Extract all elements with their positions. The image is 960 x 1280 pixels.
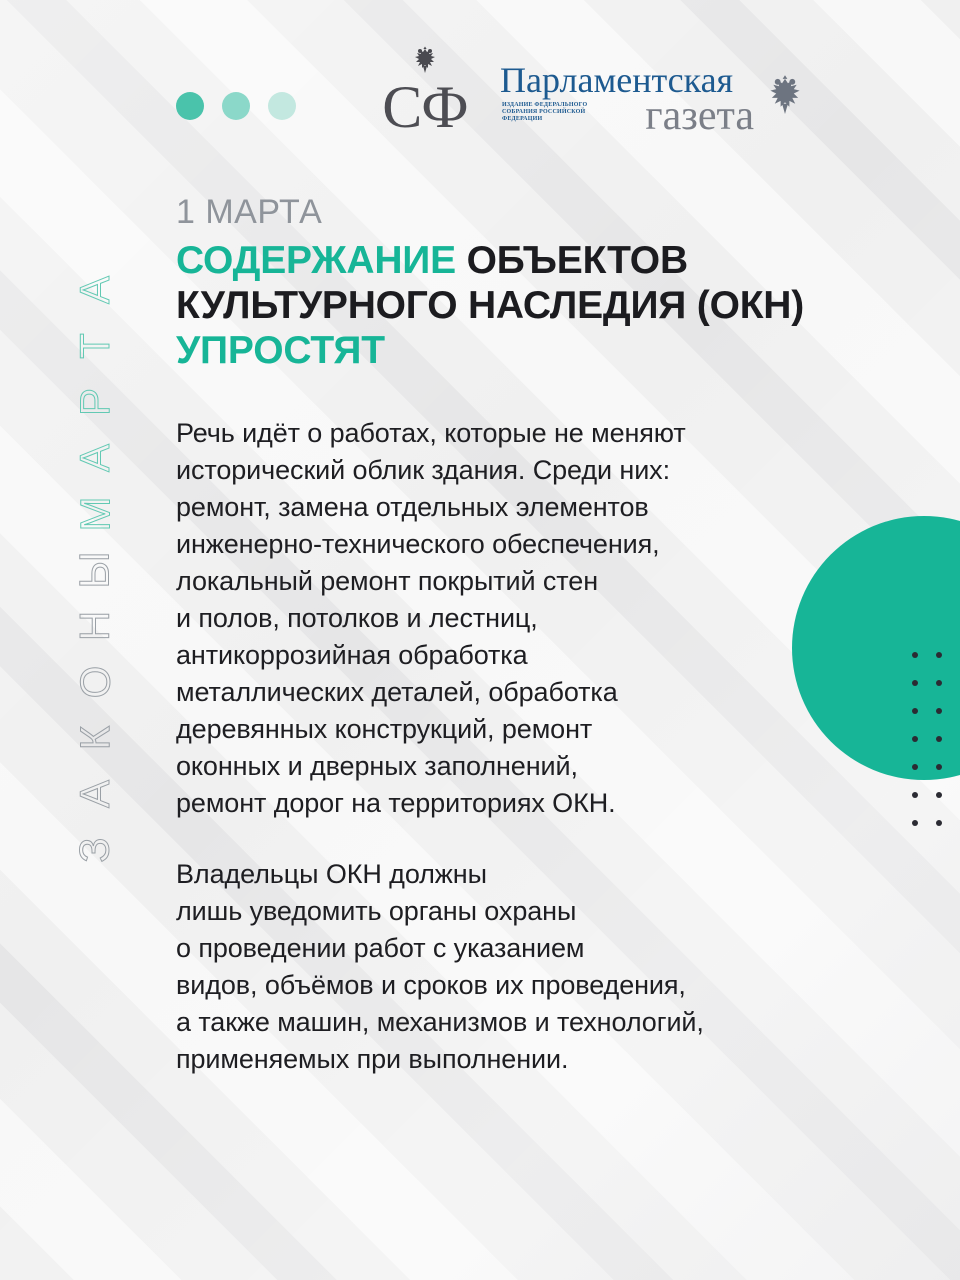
body-line: инженерно-технического обеспечения, xyxy=(176,526,876,563)
grid-dot-icon xyxy=(912,764,918,770)
side-label-letter-10: З xyxy=(73,837,117,862)
side-label-letter-6: Н xyxy=(73,611,117,641)
body-paragraphs: Речь идёт о работах, которые не меняютис… xyxy=(176,415,876,1078)
side-label-letter-7: О xyxy=(73,666,117,699)
grid-dot-icon xyxy=(912,652,918,658)
side-label-letter-2: Р xyxy=(73,388,117,416)
headline-accent-start: СОДЕРЖАНИЕ xyxy=(176,239,456,282)
parlamentskaya-gazeta-logo: Парламентская газета ИЗДАНИЕ ФЕДЕРАЛЬНОГ… xyxy=(500,62,800,136)
body-line: видов, объёмов и сроков их проведения, xyxy=(176,967,876,1004)
grid-dot-icon xyxy=(912,680,918,686)
side-label-letter-3: А xyxy=(73,444,117,472)
date-kicker: 1 МАРТА xyxy=(176,192,876,232)
double-headed-eagle-icon xyxy=(370,46,480,76)
grid-dot-icon xyxy=(912,708,918,714)
body-line: Владельцы ОКН должны xyxy=(176,856,876,893)
body-line: а также машин, механизмов и технологий, xyxy=(176,1004,876,1041)
infographic-card: СФ Парламентская газета ИЗДАНИЕ ФЕДЕРАЛЬ… xyxy=(0,0,960,1280)
body-line: металлических деталей, обработка xyxy=(176,674,876,711)
grid-dot-icon xyxy=(936,708,942,714)
body-line: и полов, потолков и лестниц, xyxy=(176,600,876,637)
federation-council-logo: СФ xyxy=(370,46,480,138)
body-line: оконных и дверных заполнений, xyxy=(176,748,876,785)
body-line: деревянных конструкций, ремонт xyxy=(176,711,876,748)
grid-dot-icon xyxy=(936,736,942,742)
headline-accent-end: УПРОСТЯТ xyxy=(176,329,385,372)
body-line: о проведении работ с указанием xyxy=(176,930,876,967)
header-dot-1-icon xyxy=(176,92,204,120)
header-dot-3-icon xyxy=(268,92,296,120)
side-label-letter-5: Ы xyxy=(73,551,117,588)
vertical-section-label: АТРАМЫНОКАЗ xyxy=(72,268,118,872)
grid-dot-icon xyxy=(912,820,918,826)
pg-double-headed-eagle-icon xyxy=(766,74,804,122)
side-label-letter-0: А xyxy=(73,276,117,304)
grid-dot-icon xyxy=(936,680,942,686)
pg-logo-subtitle: ИЗДАНИЕ ФЕДЕРАЛЬНОГО СОБРАНИЯ РОССИЙСКОЙ… xyxy=(502,102,622,123)
body-line: ремонт дорог на территориях ОКН. xyxy=(176,785,876,822)
para-2: Владельцы ОКН должнылишь уведомить орган… xyxy=(176,856,876,1078)
side-label-letter-1: Т xyxy=(73,333,117,359)
sf-letters: СФ xyxy=(370,76,480,138)
header-dots-decoration xyxy=(176,92,296,120)
body-line: исторический облик здания. Среди них: xyxy=(176,452,876,489)
para-1: Речь идёт о работах, которые не меняютис… xyxy=(176,415,876,822)
side-label-letter-8: К xyxy=(73,726,117,750)
dot-grid-decoration xyxy=(912,652,960,848)
header-dot-2-icon xyxy=(222,92,250,120)
body-line: ремонт, замена отдельных элементов xyxy=(176,489,876,526)
grid-dot-icon xyxy=(936,820,942,826)
grid-dot-icon xyxy=(912,736,918,742)
grid-dot-icon xyxy=(936,792,942,798)
side-label-letter-9: А xyxy=(73,780,117,808)
body-line: применяемых при выполнении. xyxy=(176,1041,876,1078)
side-label-letter-4: М xyxy=(73,497,117,532)
grid-dot-icon xyxy=(936,764,942,770)
body-line: антикоррозийная обработка xyxy=(176,637,876,674)
header: СФ Парламентская газета ИЗДАНИЕ ФЕДЕРАЛЬ… xyxy=(0,0,960,160)
main-content: 1 МАРТА СОДЕРЖАНИЕ ОБЪЕКТОВ КУЛЬТУРНОГО … xyxy=(176,192,876,1078)
page-title: СОДЕРЖАНИЕ ОБЪЕКТОВ КУЛЬТУРНОГО НАСЛЕДИЯ… xyxy=(176,238,876,373)
body-line: локальный ремонт покрытий стен xyxy=(176,563,876,600)
body-line: Речь идёт о работах, которые не меняют xyxy=(176,415,876,452)
grid-dot-icon xyxy=(936,652,942,658)
grid-dot-icon xyxy=(912,792,918,798)
body-line: лишь уведомить органы охраны xyxy=(176,893,876,930)
